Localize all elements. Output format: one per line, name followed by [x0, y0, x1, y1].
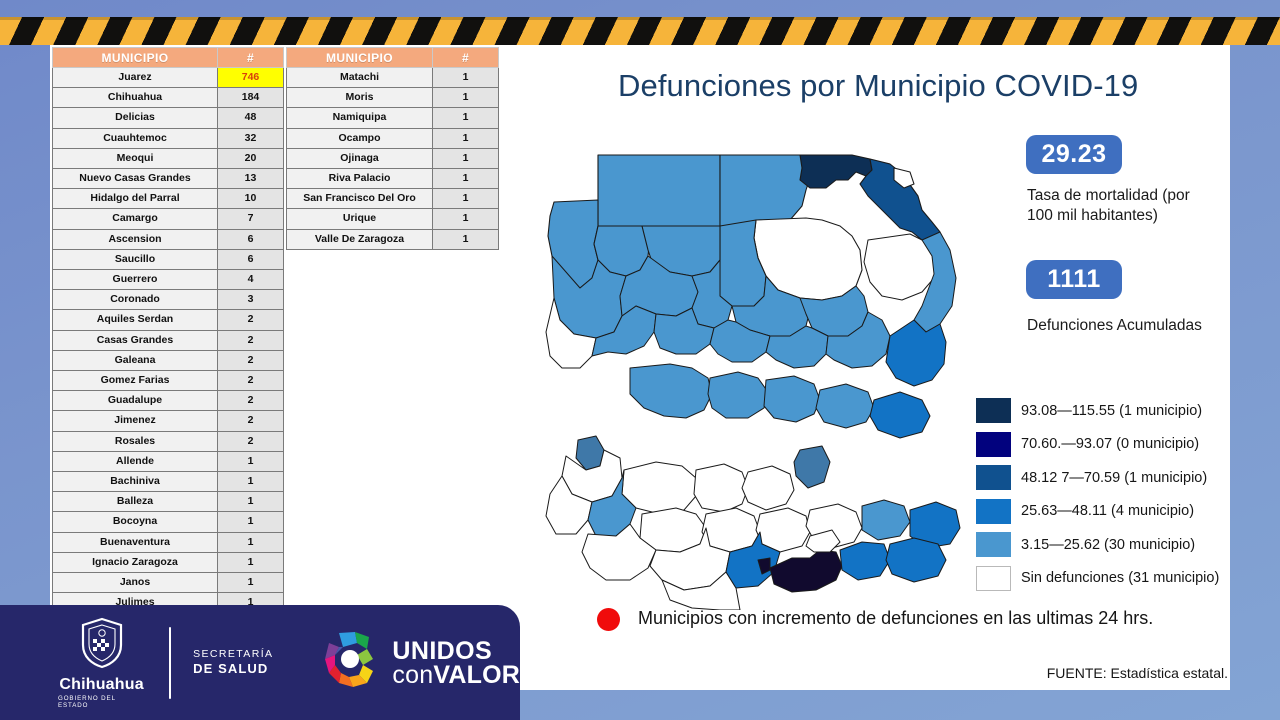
table-row: Valle De Zaragoza1 [287, 229, 499, 249]
municipality-name: Cuauhtemoc [53, 128, 218, 148]
unidos-line-2: conVALOR [392, 663, 520, 687]
table-row: San Francisco Del Oro1 [287, 189, 499, 209]
municipality-count: 1 [218, 512, 284, 532]
chihuahua-label: Chihuahua [59, 676, 143, 694]
municipality-name: Gomez Farias [53, 371, 218, 391]
municipality-count: 2 [218, 330, 284, 350]
table-row: Ignacio Zaragoza1 [53, 552, 284, 572]
secretaria-line-1: SECRETARÍA [193, 648, 273, 661]
municipality-count: 20 [218, 148, 284, 168]
municipality-name: Guerrero [53, 270, 218, 290]
table-header-row: MUNICIPIO # [53, 48, 284, 68]
municipality-count: 48 [218, 108, 284, 128]
column-header-count: # [433, 48, 499, 68]
chihuahua-sublabel: GOBIERNO DEL ESTADO [58, 695, 145, 709]
table-row: Urique1 [287, 209, 499, 229]
municipality-name: Urique [287, 209, 433, 229]
municipality-count: 2 [218, 371, 284, 391]
choropleth-map-chihuahua [470, 110, 970, 610]
municipality-count: 32 [218, 128, 284, 148]
municipality-count: 6 [218, 249, 284, 269]
municipality-name: Meoqui [53, 148, 218, 168]
table-row: Ascension6 [53, 229, 284, 249]
legend-row: Sin defunciones (31 municipio) [976, 562, 1219, 596]
municipality-count: 1 [218, 532, 284, 552]
municipality-name: Ojinaga [287, 148, 433, 168]
municipality-count: 746 [218, 68, 284, 88]
table-row: Moris1 [287, 88, 499, 108]
municipality-name: Casas Grandes [53, 330, 218, 350]
municipality-name: Matachi [287, 68, 433, 88]
table-row: Allende1 [53, 451, 284, 471]
municipality-count: 1 [218, 451, 284, 471]
map-region-balleza-n [702, 508, 760, 552]
table-row: Hidalgo del Parral10 [53, 189, 284, 209]
unidos-con-valor-logo: UNIDOS conVALOR [321, 629, 520, 696]
table-row: Guadalupe2 [53, 391, 284, 411]
municipality-count: 2 [218, 350, 284, 370]
municipality-count: 1 [218, 472, 284, 492]
table-row: Aquiles Serdan2 [53, 310, 284, 330]
municipality-name: Camargo [53, 209, 218, 229]
municipality-count: 184 [218, 88, 284, 108]
accumulated-deaths-value: 1111 [1026, 260, 1122, 299]
municipality-count: 1 [218, 573, 284, 593]
municipality-count: 1 [433, 189, 499, 209]
municipality-count: 1 [433, 209, 499, 229]
municipality-name: Namiquipa [287, 108, 433, 128]
table-row: Matachi1 [287, 68, 499, 88]
legend-color-swatch [976, 432, 1011, 457]
mortality-rate-label: Tasa de mortalidad (por 100 mil habitant… [1027, 186, 1207, 226]
secretaria-de-salud-logo: SECRETARÍA DE SALUD [193, 648, 273, 677]
secretaria-line-2: DE SALUD [193, 661, 273, 677]
map-region-nonoava [694, 464, 748, 512]
map-region-aldama-s [870, 392, 930, 438]
municipality-name: Rosales [53, 431, 218, 451]
table-header-row: MUNICIPIO # [287, 48, 499, 68]
legend-color-swatch [976, 532, 1011, 557]
municipality-name: Saucillo [53, 249, 218, 269]
footer-branding-panel: Chihuahua GOBIERNO DEL ESTADO SECRETARÍA… [0, 605, 520, 720]
table-row: Bachiniva1 [53, 472, 284, 492]
page-title: Defunciones por Municipio COVID-19 [618, 68, 1138, 104]
municipality-count: 1 [218, 492, 284, 512]
municipality-table-primary: MUNICIPIO # Juarez746Chihuahua184Delicia… [52, 47, 284, 634]
municipality-count: 1 [218, 552, 284, 572]
table-row: Galeana2 [53, 350, 284, 370]
table-row: Bocoyna1 [53, 512, 284, 532]
table-row: Juarez746 [53, 68, 284, 88]
legend-label: 3.15—25.62 (30 municipio) [1021, 537, 1195, 553]
municipality-name: Buenaventura [53, 532, 218, 552]
legend-color-swatch [976, 566, 1011, 591]
table-row: Nuevo Casas Grandes13 [53, 169, 284, 189]
table-row: Guerrero4 [53, 270, 284, 290]
column-header-count: # [218, 48, 284, 68]
source-text: FUENTE: Estadística estatal. [1047, 665, 1228, 681]
municipality-name: Moris [287, 88, 433, 108]
map-region-jimenez-s [886, 538, 946, 582]
municipality-name: Coronado [53, 290, 218, 310]
municipality-name: Riva Palacio [287, 169, 433, 189]
map-region-janos [598, 155, 720, 226]
unidos-con: con [392, 661, 433, 689]
municipality-name: Valle De Zaragoza [287, 229, 433, 249]
legend-label: 70.60.—93.07 (0 municipio) [1021, 436, 1199, 452]
map-region-coronado [794, 446, 830, 488]
municipality-name: Ascension [53, 229, 218, 249]
municipality-count: 1 [433, 169, 499, 189]
municipality-tables: MUNICIPIO # Juarez746Chihuahua184Delicia… [52, 47, 499, 634]
municipality-count: 1 [433, 148, 499, 168]
legend-label: 93.08—115.55 (1 municipio) [1021, 403, 1202, 419]
municipality-name: Allende [53, 451, 218, 471]
legend-color-swatch [976, 499, 1011, 524]
chihuahua-government-logo: Chihuahua GOBIERNO DEL ESTADO [58, 617, 145, 709]
table-row: Janos1 [53, 573, 284, 593]
municipality-name: Guadalupe [53, 391, 218, 411]
legend-row: 48.12 7—70.59 (1 municipio) [976, 461, 1219, 495]
table-row: Gomez Farias2 [53, 371, 284, 391]
municipality-name: Galeana [53, 350, 218, 370]
municipality-count: 2 [218, 431, 284, 451]
municipality-name: Hidalgo del Parral [53, 189, 218, 209]
map-region-ascension [720, 155, 810, 228]
municipality-table-secondary: MUNICIPIO # Matachi1Moris1Namiquipa1Ocam… [286, 47, 499, 250]
municipality-count: 2 [218, 391, 284, 411]
unidos-valor: VALOR [433, 661, 520, 689]
table-row: Camargo7 [53, 209, 284, 229]
municipality-count: 6 [218, 229, 284, 249]
map-region-camargo [862, 500, 910, 540]
municipality-name: San Francisco Del Oro [287, 189, 433, 209]
unidos-wordmark: UNIDOS conVALOR [392, 639, 520, 687]
legend-label: 48.12 7—70.59 (1 municipio) [1021, 470, 1207, 486]
table-row: Buenaventura1 [53, 532, 284, 552]
column-header-municipio: MUNICIPIO [53, 48, 218, 68]
legend-color-swatch [976, 465, 1011, 490]
municipality-name: Ocampo [287, 128, 433, 148]
municipality-count: 10 [218, 189, 284, 209]
mortality-rate-value: 29.23 [1026, 135, 1122, 174]
municipality-name: Ignacio Zaragoza [53, 552, 218, 572]
map-region-allende [840, 542, 890, 580]
municipality-name: Jimenez [53, 411, 218, 431]
municipality-count: 1 [433, 229, 499, 249]
table-row: Balleza1 [53, 492, 284, 512]
red-dot-icon [597, 608, 620, 631]
hazard-stripe-banner [0, 17, 1280, 45]
municipality-name: Delicias [53, 108, 218, 128]
map-region-cuauhtemoc [630, 364, 712, 418]
municipality-name: Nuevo Casas Grandes [53, 169, 218, 189]
municipality-name: Bachiniva [53, 472, 218, 492]
table-row: Saucillo6 [53, 249, 284, 269]
map-region-santa-isabel [764, 376, 820, 422]
municipality-count: 4 [218, 270, 284, 290]
legend-row: 3.15—25.62 (30 municipio) [976, 528, 1219, 562]
table-row: Ojinaga1 [287, 148, 499, 168]
legend-row: 93.08—115.55 (1 municipio) [976, 394, 1219, 428]
table-row: Jimenez2 [53, 411, 284, 431]
municipality-count: 2 [218, 310, 284, 330]
map-legend: 93.08—115.55 (1 municipio)70.60.—93.07 (… [976, 394, 1219, 595]
shield-icon [80, 617, 124, 674]
increment-note-text: Municipios con incremento de defunciones… [638, 605, 1198, 631]
municipality-name: Balleza [53, 492, 218, 512]
table-row: Cuauhtemoc32 [53, 128, 284, 148]
table-row: Ocampo1 [287, 128, 499, 148]
legend-row: 25.63—48.11 (4 municipio) [976, 495, 1219, 529]
municipality-name: Juarez [53, 68, 218, 88]
map-region-san-francisco-del-oro [770, 550, 842, 592]
table-row: Casas Grandes2 [53, 330, 284, 350]
municipality-count: 1 [433, 128, 499, 148]
table-row: Chihuahua184 [53, 88, 284, 108]
municipality-count: 3 [218, 290, 284, 310]
legend-color-swatch [976, 398, 1011, 423]
municipality-count: 1 [433, 108, 499, 128]
municipality-count: 7 [218, 209, 284, 229]
municipality-name: Janos [53, 573, 218, 593]
legend-label: 25.63—48.11 (4 municipio) [1021, 503, 1194, 519]
municipality-count: 1 [433, 88, 499, 108]
table-row: Namiquipa1 [287, 108, 499, 128]
municipality-name: Chihuahua [53, 88, 218, 108]
map-region-satevo [742, 466, 794, 510]
municipality-count: 13 [218, 169, 284, 189]
unidos-line-1: UNIDOS [392, 639, 520, 663]
municipality-name: Aquiles Serdan [53, 310, 218, 330]
municipality-count: 1 [433, 68, 499, 88]
table-row: Riva Palacio1 [287, 169, 499, 189]
map-region-chihuahua-city [816, 384, 874, 428]
map-region-aldama-e [886, 320, 946, 386]
footer-divider [169, 627, 171, 699]
column-header-municipio: MUNICIPIO [287, 48, 433, 68]
legend-label: Sin defunciones (31 municipio) [1021, 570, 1219, 586]
chihuahua-state-shape-icon [321, 629, 383, 696]
municipality-count: 2 [218, 411, 284, 431]
table-row: Coronado3 [53, 290, 284, 310]
accumulated-deaths-label: Defunciones Acumuladas [1027, 316, 1207, 336]
legend-row: 70.60.—93.07 (0 municipio) [976, 428, 1219, 462]
municipality-name: Bocoyna [53, 512, 218, 532]
table-row: Delicias48 [53, 108, 284, 128]
map-region-cusihuiriachi [708, 372, 768, 418]
table-row: Rosales2 [53, 431, 284, 451]
table-row: Meoqui20 [53, 148, 284, 168]
